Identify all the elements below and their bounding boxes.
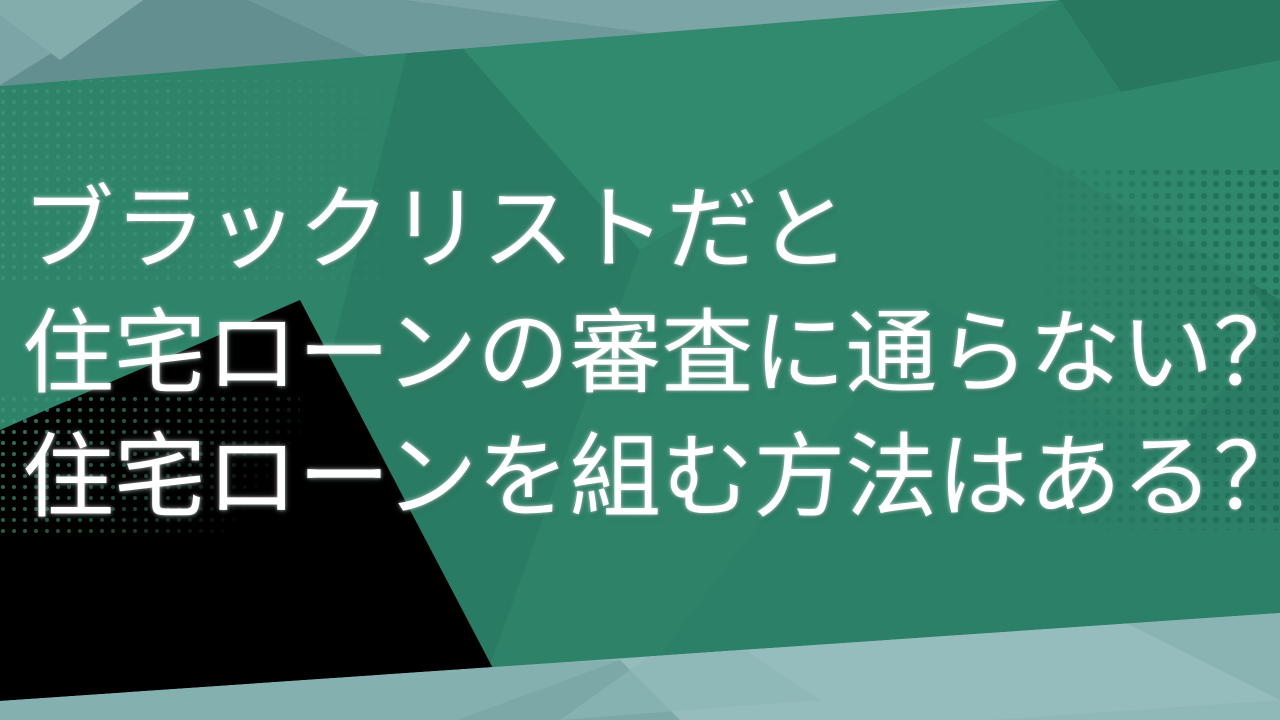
- title-slide: ブラックリストだと 住宅ローンの審査に通らない？ 住宅ローンを組む方法はある？: [0, 0, 1280, 720]
- headline-line-1: ブラックリストだと: [22, 168, 1258, 292]
- headline-line-3: 住宅ローンを組む方法はある？: [22, 416, 1258, 540]
- headline: ブラックリストだと 住宅ローンの審査に通らない？ 住宅ローンを組む方法はある？: [0, 168, 1280, 540]
- headline-line-2: 住宅ローンの審査に通らない？: [22, 292, 1258, 416]
